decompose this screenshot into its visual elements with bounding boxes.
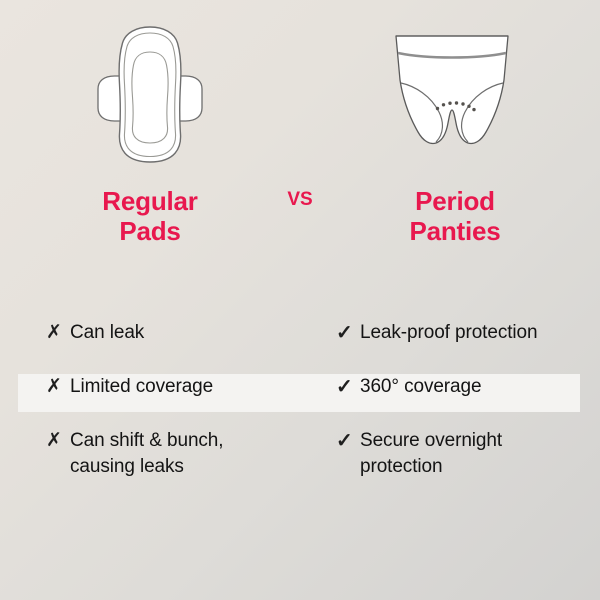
comparison-text-left: Limited coverage xyxy=(70,374,316,400)
comparison-row: ✗ Can shift & bunch, causing leaks ✓ Sec… xyxy=(0,428,600,478)
comparison-text-right-line1: 360° coverage xyxy=(360,376,481,397)
comparison-row: ✗ Can leak ✓ Leak-proof protection xyxy=(0,320,600,370)
comparison-text-left: Can shift & bunch, causing leaks xyxy=(70,428,316,480)
comparison-text-right: Leak-proof protection xyxy=(360,320,586,346)
comparison-infographic: Regular Pads VS Period Panties ✗ Can lea… xyxy=(0,0,600,600)
heading-left-line1: Regular xyxy=(50,186,250,216)
sanitary-pad-icon xyxy=(92,22,208,173)
comparison-table: ✗ Can leak ✓ Leak-proof protection ✗ Lim… xyxy=(0,312,600,512)
comparison-cell-left: ✗ Can leak xyxy=(46,320,316,346)
comparison-text-left-line1: Limited coverage xyxy=(70,376,213,397)
heading-right-line1: Period xyxy=(355,186,555,216)
check-icon: ✓ xyxy=(336,320,360,346)
comparison-text-left-line2: causing leaks xyxy=(70,454,316,480)
comparison-cell-right: ✓ Leak-proof protection xyxy=(336,320,586,346)
cross-icon: ✗ xyxy=(46,428,70,454)
comparison-text-left-line1: Can shift & bunch, xyxy=(70,430,223,451)
comparison-cell-left: ✗ Limited coverage xyxy=(46,374,316,400)
headings-row: Regular Pads VS Period Panties xyxy=(0,186,600,270)
comparison-text-right: Secure overnight protection xyxy=(360,428,586,480)
heading-period-panties: Period Panties xyxy=(355,186,555,246)
period-panties-icon xyxy=(382,22,522,157)
versus-label: VS xyxy=(250,189,350,211)
comparison-text-right-line2: protection xyxy=(360,454,586,480)
comparison-text-left-line1: Can leak xyxy=(70,322,144,343)
comparison-text-left: Can leak xyxy=(70,320,316,346)
check-icon: ✓ xyxy=(336,374,360,400)
cross-icon: ✗ xyxy=(46,320,70,346)
comparison-cell-left: ✗ Can shift & bunch, causing leaks xyxy=(46,428,316,480)
heading-left-line2: Pads xyxy=(50,216,250,246)
comparison-text-right-line1: Leak-proof protection xyxy=(360,322,537,343)
heading-regular-pads: Regular Pads xyxy=(50,186,250,246)
check-icon: ✓ xyxy=(336,428,360,454)
comparison-cell-right: ✓ 360° coverage xyxy=(336,374,586,400)
heading-right-line2: Panties xyxy=(355,216,555,246)
cross-icon: ✗ xyxy=(46,374,70,400)
comparison-text-right: 360° coverage xyxy=(360,374,586,400)
comparison-cell-right: ✓ Secure overnight protection xyxy=(336,428,586,480)
illustration-row xyxy=(0,0,600,180)
comparison-row: ✗ Limited coverage ✓ 360° coverage xyxy=(0,374,600,424)
comparison-text-right-line1: Secure overnight xyxy=(360,430,502,451)
